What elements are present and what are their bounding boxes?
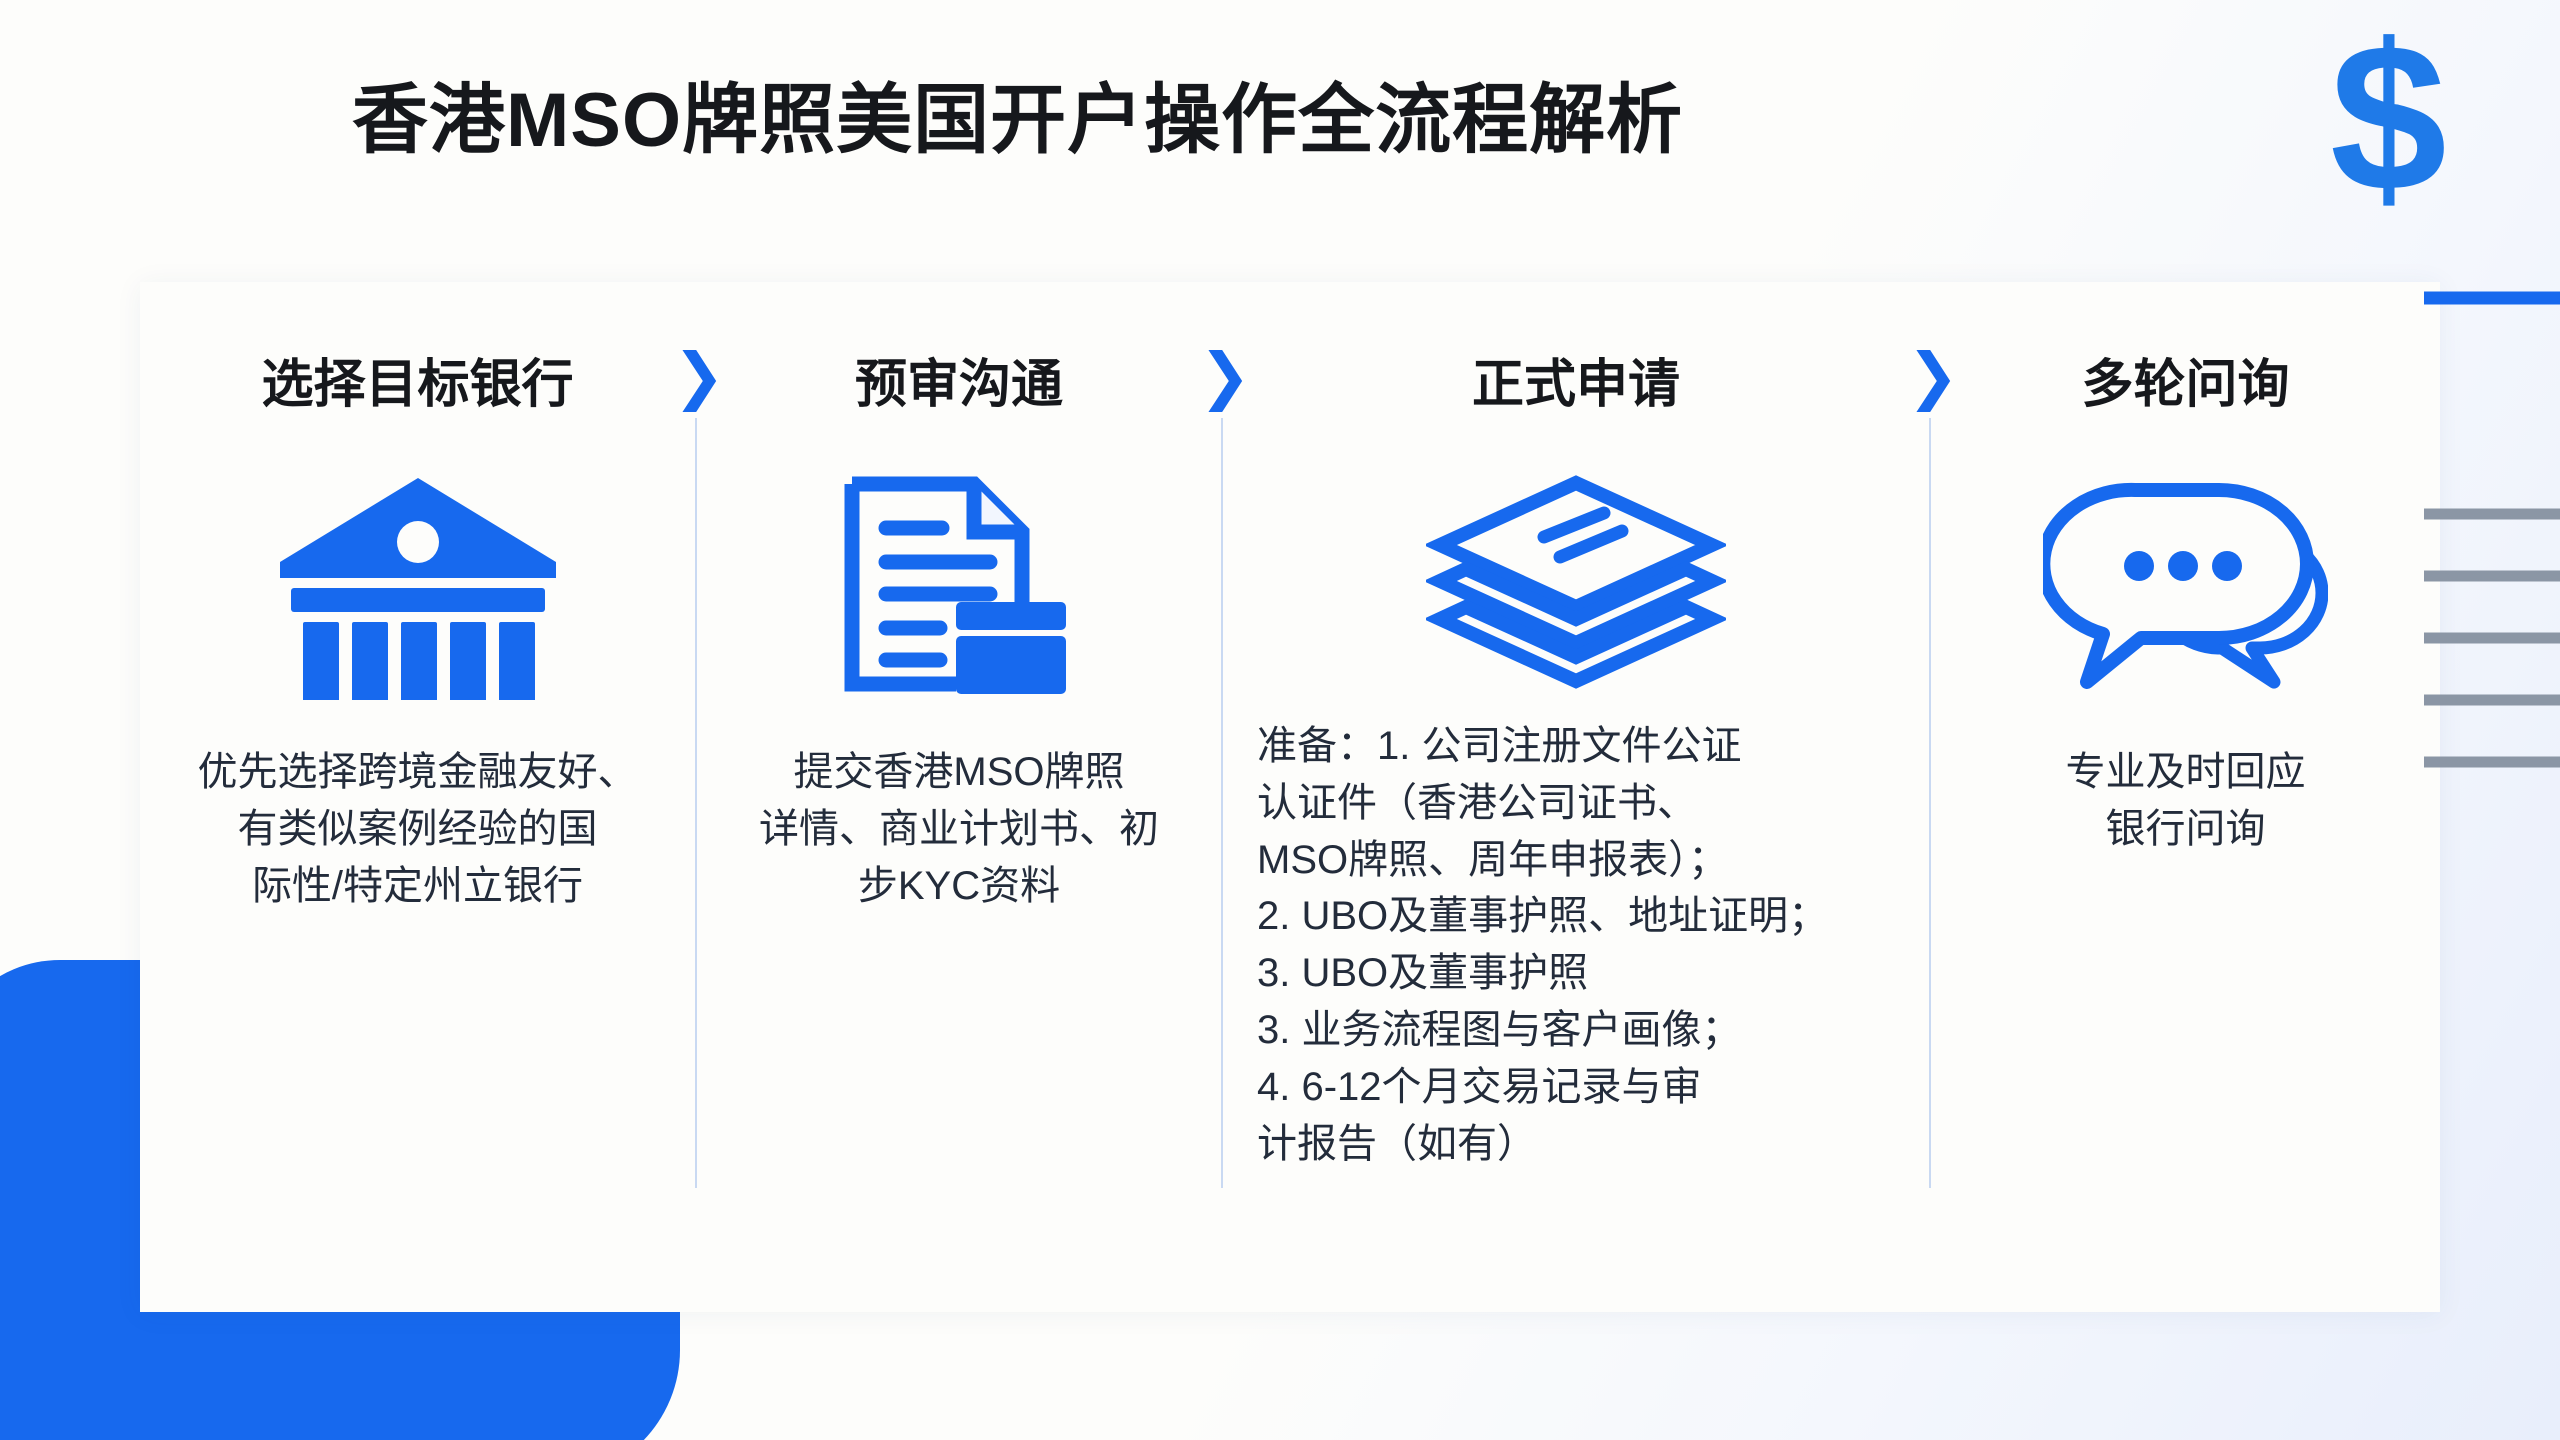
page-title: 香港MSO牌照美国开户操作全流程解析 [352, 58, 1683, 168]
step-body-line: 3. UBO及董事护照 [1257, 945, 1905, 1002]
step-heading-1: 选择目标银行 [140, 342, 695, 417]
chat-bubbles-icon [1931, 470, 2440, 700]
step-heading-2: 预审沟通 [697, 342, 1221, 417]
step-body-line: 提交香港MSO牌照 [739, 744, 1179, 801]
step-column-4: 多轮问询 专业及时回应 银行问询 [1931, 300, 2440, 1312]
infographic-root: 香港MSO牌照美国开户操作全流程解析 $ 选择目标银行 [0, 0, 2560, 1440]
step-body-line: 有类似案例经验的国 [182, 801, 653, 858]
step-body-line: 银行问询 [1973, 801, 2398, 858]
step-body-line: 步KYC资料 [739, 858, 1179, 915]
step-body-4: 专业及时回应 银行问询 [1931, 744, 2440, 858]
step-body-line: 认证件（香港公司证书、 [1257, 775, 1905, 832]
step-body-line: MSO牌照、周年申报表）； [1257, 832, 1905, 889]
step-heading-4: 多轮问询 [1931, 342, 2440, 417]
step-body-line: 2. UBO及董事护照、地址证明； [1257, 888, 1905, 945]
step-body-1: 优先选择跨境金融友好、 有类似案例经验的国 际性/特定州立银行 [140, 744, 695, 914]
step-body-line: 4. 6-12个月交易记录与审 [1257, 1059, 1905, 1116]
step-column-3: 正式申请 准备：1. 公司注册文件公证 认证件（香港公司证书、 [1223, 300, 1929, 1312]
step-body-line: 详情、商业计划书、初 [739, 801, 1179, 858]
stacked-layers-icon [1223, 470, 1929, 700]
steps-container: 选择目标银行 优先选择跨境金融友好、 [140, 300, 2440, 1312]
step-column-1: 选择目标银行 优先选择跨境金融友好、 [140, 300, 695, 1312]
dollar-sign-icon: $ [2330, 18, 2447, 218]
step-body-line: 准备：1. 公司注册文件公证 [1257, 718, 1905, 775]
step-body-line: 专业及时回应 [1973, 744, 2398, 801]
step-body-line: 优先选择跨境金融友好、 [182, 744, 653, 801]
document-card-icon [697, 470, 1221, 700]
step-body-3: 准备：1. 公司注册文件公证 认证件（香港公司证书、 MSO牌照、周年申报表）；… [1223, 718, 1929, 1172]
step-heading-3: 正式申请 [1223, 342, 1929, 417]
step-body-line: 计报告（如有） [1257, 1116, 1905, 1173]
step-body-2: 提交香港MSO牌照 详情、商业计划书、初 步KYC资料 [697, 744, 1221, 914]
step-body-line: 3. 业务流程图与客户画像； [1257, 1002, 1905, 1059]
bank-icon [140, 470, 695, 700]
step-column-2: 预审沟通 [697, 300, 1221, 1312]
step-body-line: 际性/特定州立银行 [182, 858, 653, 915]
